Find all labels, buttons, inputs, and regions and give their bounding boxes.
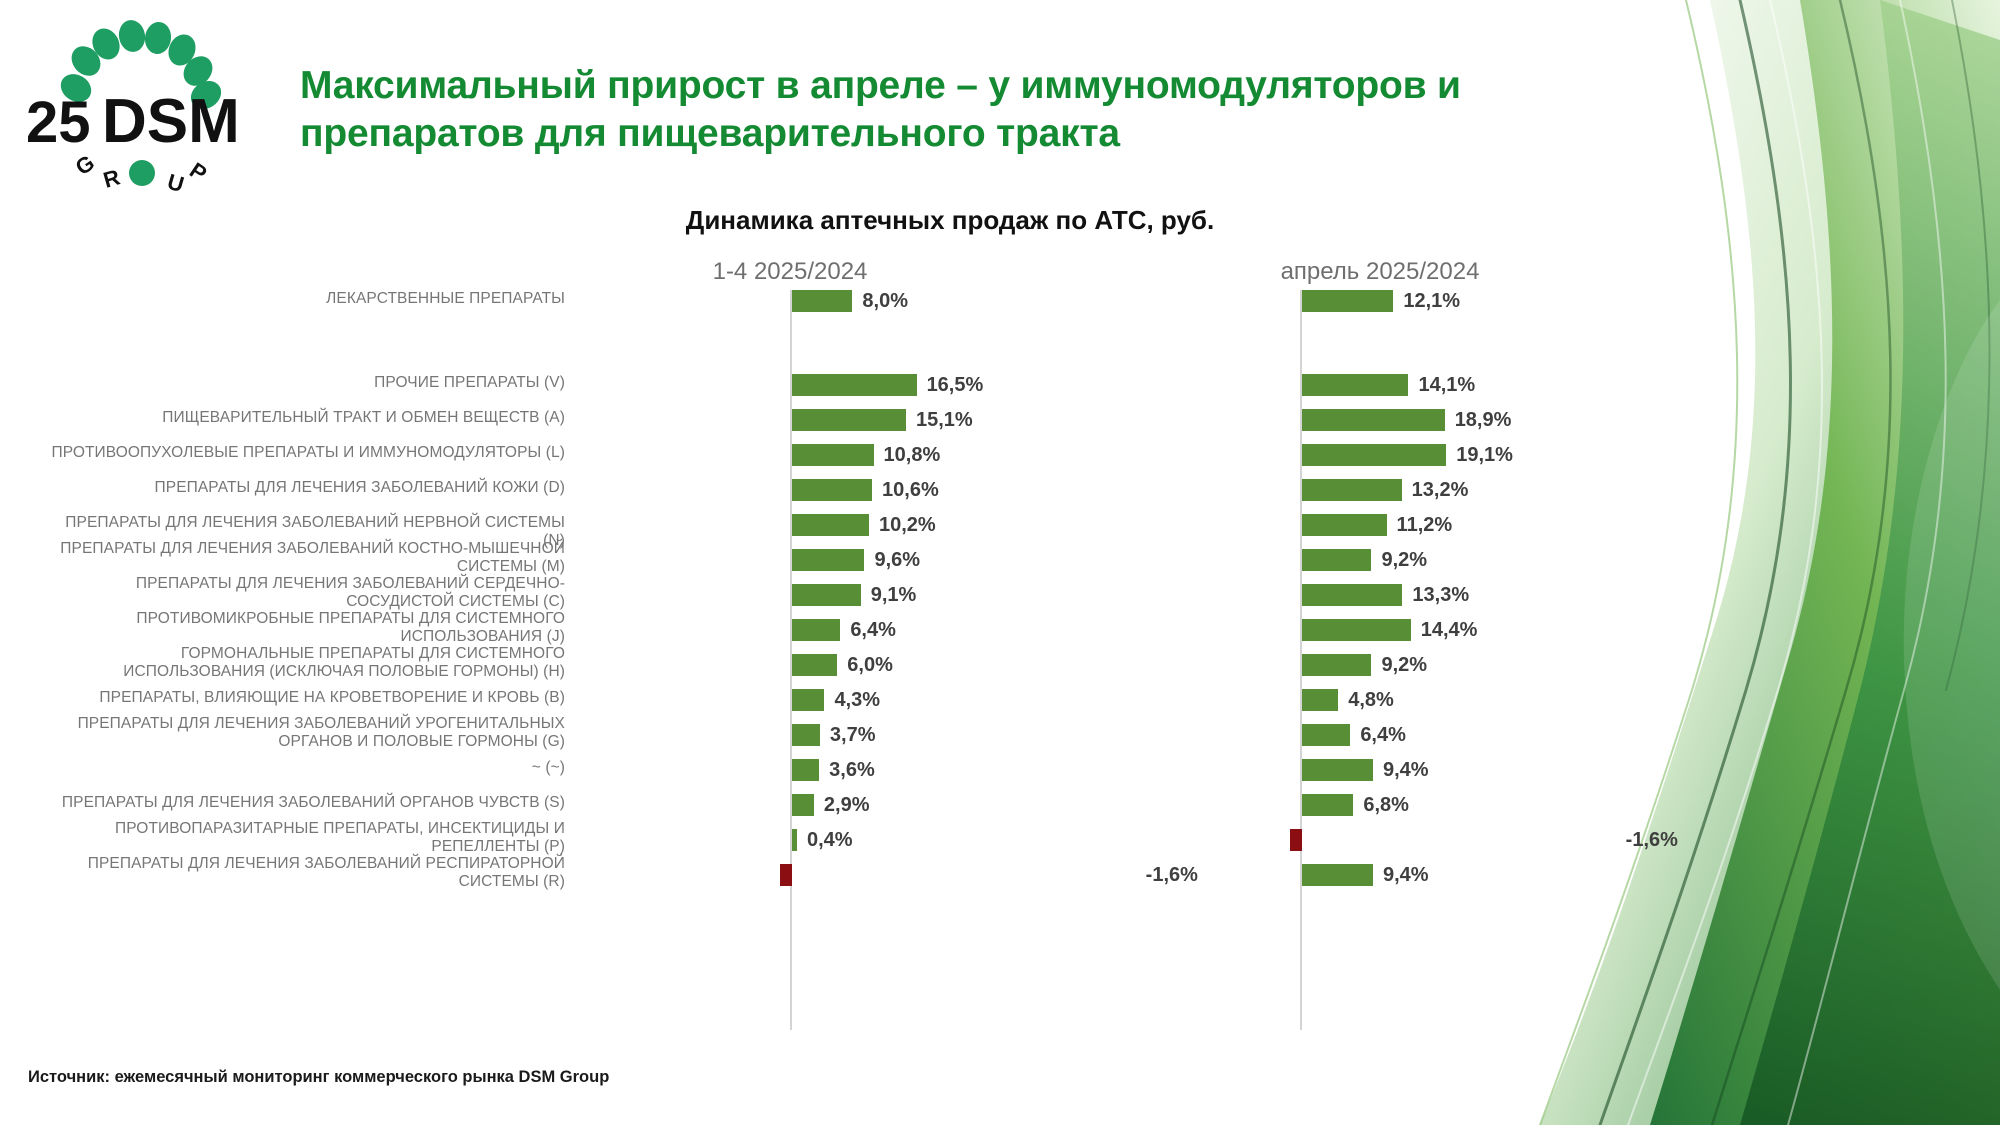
category-label: ПРЕПАРАТЫ ДЛЯ ЛЕЧЕНИЯ ЗАБОЛЕВАНИЙ КОЖИ (…: [45, 479, 565, 497]
bar-value-period_1_4-3: 15,1%: [916, 409, 973, 431]
bar-value-period_april-10: 9,2%: [1381, 654, 1427, 676]
bar-value-period_1_4-16: -1,6%: [1146, 864, 1198, 886]
slide-title-line-2: препаратов для пищеварительного тракта: [300, 110, 1660, 158]
category-label: ПРЕПАРАТЫ ДЛЯ ЛЕЧЕНИЯ ЗАБОЛЕВАНИЙ КОСТНО…: [45, 540, 565, 577]
bar-value-period_1_4-6: 10,2%: [879, 514, 936, 536]
bar-period_april-14: [1302, 794, 1353, 816]
bar-value-period_1_4-5: 10,6%: [882, 479, 939, 501]
logo-number: 25: [26, 90, 91, 155]
slide-title: Максимальный прирост в апреле – у иммуно…: [300, 62, 1660, 157]
category-label: ПРЕПАРАТЫ ДЛЯ ЛЕЧЕНИЯ ЗАБОЛЕВАНИЙ РЕСПИР…: [45, 855, 565, 892]
bar-period_1_4-0: [792, 290, 852, 312]
bar-value-period_1_4-0: 8,0%: [862, 290, 908, 312]
category-label: ПРЕПАРАТЫ ДЛЯ ЛЕЧЕНИЯ ЗАБОЛЕВАНИЙ СЕРДЕЧ…: [45, 575, 565, 612]
bar-value-period_april-7: 9,2%: [1381, 549, 1427, 571]
bar-value-period_april-14: 6,8%: [1363, 794, 1409, 816]
bar-period_1_4-4: [792, 444, 874, 466]
bar-period_1_4-12: [792, 724, 820, 746]
bar-value-period_1_4-9: 6,4%: [850, 619, 896, 641]
category-label: ГОРМОНАЛЬНЫЕ ПРЕПАРАТЫ ДЛЯ СИСТЕМНОГО ИС…: [45, 645, 565, 682]
bar-value-period_1_4-10: 6,0%: [847, 654, 893, 676]
bar-period_april-9: [1302, 619, 1411, 641]
bar-period_1_4-2: [792, 374, 917, 396]
bar-value-period_1_4-13: 3,6%: [829, 759, 875, 781]
chart-title: Динамика аптечных продаж по АТС, руб.: [360, 205, 1540, 236]
bar-value-period_april-15: -1,6%: [1626, 829, 1678, 851]
bar-period_april-5: [1302, 479, 1402, 501]
panel-period-1-4: 8,0%16,5%15,1%10,8%10,6%10,2%9,6%9,1%6,4…: [790, 290, 1220, 1030]
column-header-period-1-4: 1-4 2025/2024: [640, 258, 940, 286]
bar-period_1_4-9: [792, 619, 840, 641]
category-label: ПРЕПАРАТЫ, ВЛИЯЮЩИЕ НА КРОВЕТВОРЕНИЕ И К…: [45, 689, 565, 707]
bar-value-period_1_4-12: 3,7%: [830, 724, 876, 746]
bar-value-period_april-4: 19,1%: [1456, 444, 1513, 466]
bar-period_april-16: [1302, 864, 1373, 886]
bar-value-period_april-16: 9,4%: [1383, 864, 1429, 886]
logo-subword-p: P: [185, 157, 211, 186]
bar-period_april-6: [1302, 514, 1387, 536]
logo-subword-u: U: [165, 169, 187, 196]
bar-period_april-0: [1302, 290, 1393, 312]
category-label: ~ (~): [45, 759, 565, 777]
bar-period_1_4-5: [792, 479, 872, 501]
bar-value-period_april-6: 11,2%: [1397, 514, 1453, 536]
bar-value-period_april-9: 14,4%: [1421, 619, 1478, 641]
bar-period_april-11: [1302, 689, 1338, 711]
bar-value-period_april-3: 18,9%: [1455, 409, 1512, 431]
bar-value-period_1_4-15: 0,4%: [807, 829, 853, 851]
bar-value-period_1_4-11: 4,3%: [834, 689, 880, 711]
bar-value-period_april-8: 13,3%: [1412, 584, 1469, 606]
category-label: ПРОТИВООПУХОЛЕВЫЕ ПРЕПАРАТЫ И ИММУНОМОДУ…: [45, 444, 565, 462]
bar-value-period_april-13: 9,4%: [1383, 759, 1429, 781]
bar-period_april-13: [1302, 759, 1373, 781]
bar-value-period_april-11: 4,8%: [1348, 689, 1394, 711]
dsm-group-logo: 25 DSM G R U P: [18, 8, 270, 196]
column-header-period-april: апрель 2025/2024: [1230, 258, 1530, 286]
bar-value-period_1_4-4: 10,8%: [884, 444, 941, 466]
bar-period_april-8: [1302, 584, 1402, 606]
bar-value-period_1_4-8: 9,1%: [871, 584, 917, 606]
bar-period_1_4-7: [792, 549, 864, 571]
category-label: ПРОТИВОПАРАЗИТАРНЫЕ ПРЕПАРАТЫ, ИНСЕКТИЦИ…: [45, 820, 565, 857]
category-label: ПРОТИВОМИКРОБНЫЕ ПРЕПАРАТЫ ДЛЯ СИСТЕМНОГ…: [45, 610, 565, 647]
bar-value-period_1_4-14: 2,9%: [824, 794, 870, 816]
bar-value-period_april-12: 6,4%: [1360, 724, 1406, 746]
logo-subword-r: R: [100, 164, 122, 192]
panel-period-april: 12,1%14,1%18,9%19,1%13,2%11,2%9,2%13,3%1…: [1300, 290, 1700, 1030]
bar-period_1_4-6: [792, 514, 869, 536]
slide-title-line-1: Максимальный прирост в апреле – у иммуно…: [300, 62, 1660, 110]
bar-period_1_4-13: [792, 759, 819, 781]
bar-period_1_4-3: [792, 409, 906, 431]
bar-period_1_4-11: [792, 689, 824, 711]
bar-period_april-15: [1290, 829, 1302, 851]
category-label: ЛЕКАРСТВЕННЫЕ ПРЕПАРАТЫ: [45, 290, 565, 308]
logo-wordmark: DSM: [102, 87, 240, 156]
bar-value-period_april-5: 13,2%: [1412, 479, 1469, 501]
bar-period_april-7: [1302, 549, 1371, 571]
bar-value-period_april-2: 14,1%: [1418, 374, 1475, 396]
category-label: ПРОЧИЕ ПРЕПАРАТЫ (V): [45, 374, 565, 392]
bar-period_1_4-15: [792, 829, 797, 851]
bar-value-period_1_4-7: 9,6%: [874, 549, 920, 571]
bar-period_1_4-14: [792, 794, 814, 816]
source-note: Источник: ежемесячный мониторинг коммерч…: [28, 1068, 609, 1087]
bar-period_1_4-8: [792, 584, 861, 606]
bar-value-period_april-0: 12,1%: [1403, 290, 1460, 312]
category-label: ПРЕПАРАТЫ ДЛЯ ЛЕЧЕНИЯ ЗАБОЛЕВАНИЙ УРОГЕН…: [45, 715, 565, 752]
bar-period_1_4-10: [792, 654, 837, 676]
chart-plot-area: 8,0%16,5%15,1%10,8%10,6%10,2%9,6%9,1%6,4…: [0, 290, 1700, 1030]
bar-period_april-3: [1302, 409, 1445, 431]
bar-period_april-2: [1302, 374, 1408, 396]
bar-period_april-12: [1302, 724, 1350, 746]
category-label: ПИЩЕВАРИТЕЛЬНЫЙ ТРАКТ И ОБМЕН ВЕЩЕСТВ (A…: [45, 409, 565, 427]
bar-period_april-4: [1302, 444, 1446, 466]
bar-period_april-10: [1302, 654, 1371, 676]
bar-period_1_4-16: [780, 864, 792, 886]
bar-value-period_1_4-2: 16,5%: [927, 374, 984, 396]
category-label: ПРЕПАРАТЫ ДЛЯ ЛЕЧЕНИЯ ЗАБОЛЕВАНИЙ ОРГАНО…: [45, 794, 565, 812]
